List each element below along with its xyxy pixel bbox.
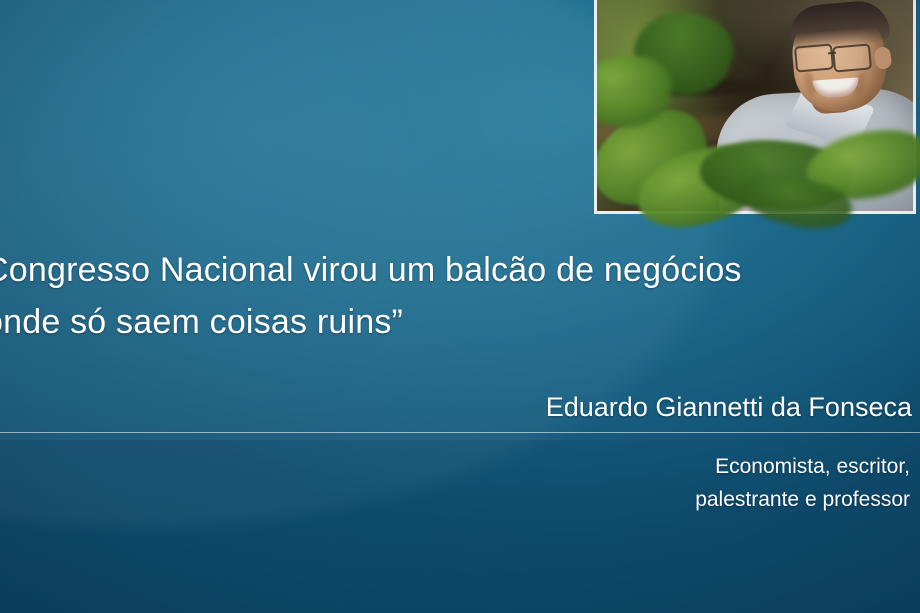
attribution-name: Eduardo Giannetti da Fonseca: [0, 392, 912, 423]
photo-person-glasses-left: [794, 43, 834, 72]
presentation-slide: Congresso Nacional virou um balcão de ne…: [0, 0, 920, 613]
attribution-role-line-1: Economista, escritor,: [0, 450, 910, 483]
attribution-role: Economista, escritor, palestrante e prof…: [0, 450, 910, 516]
attribution-role-line-2: palestrante e professor: [0, 483, 910, 516]
horizontal-divider: [0, 432, 920, 433]
photo-person-glasses-right: [832, 43, 872, 72]
quote-line-1: Congresso Nacional virou um balcão de ne…: [0, 244, 920, 296]
quote-line-2: onde só saem coisas ruins”: [0, 296, 920, 348]
quote-text: Congresso Nacional virou um balcão de ne…: [0, 244, 920, 348]
